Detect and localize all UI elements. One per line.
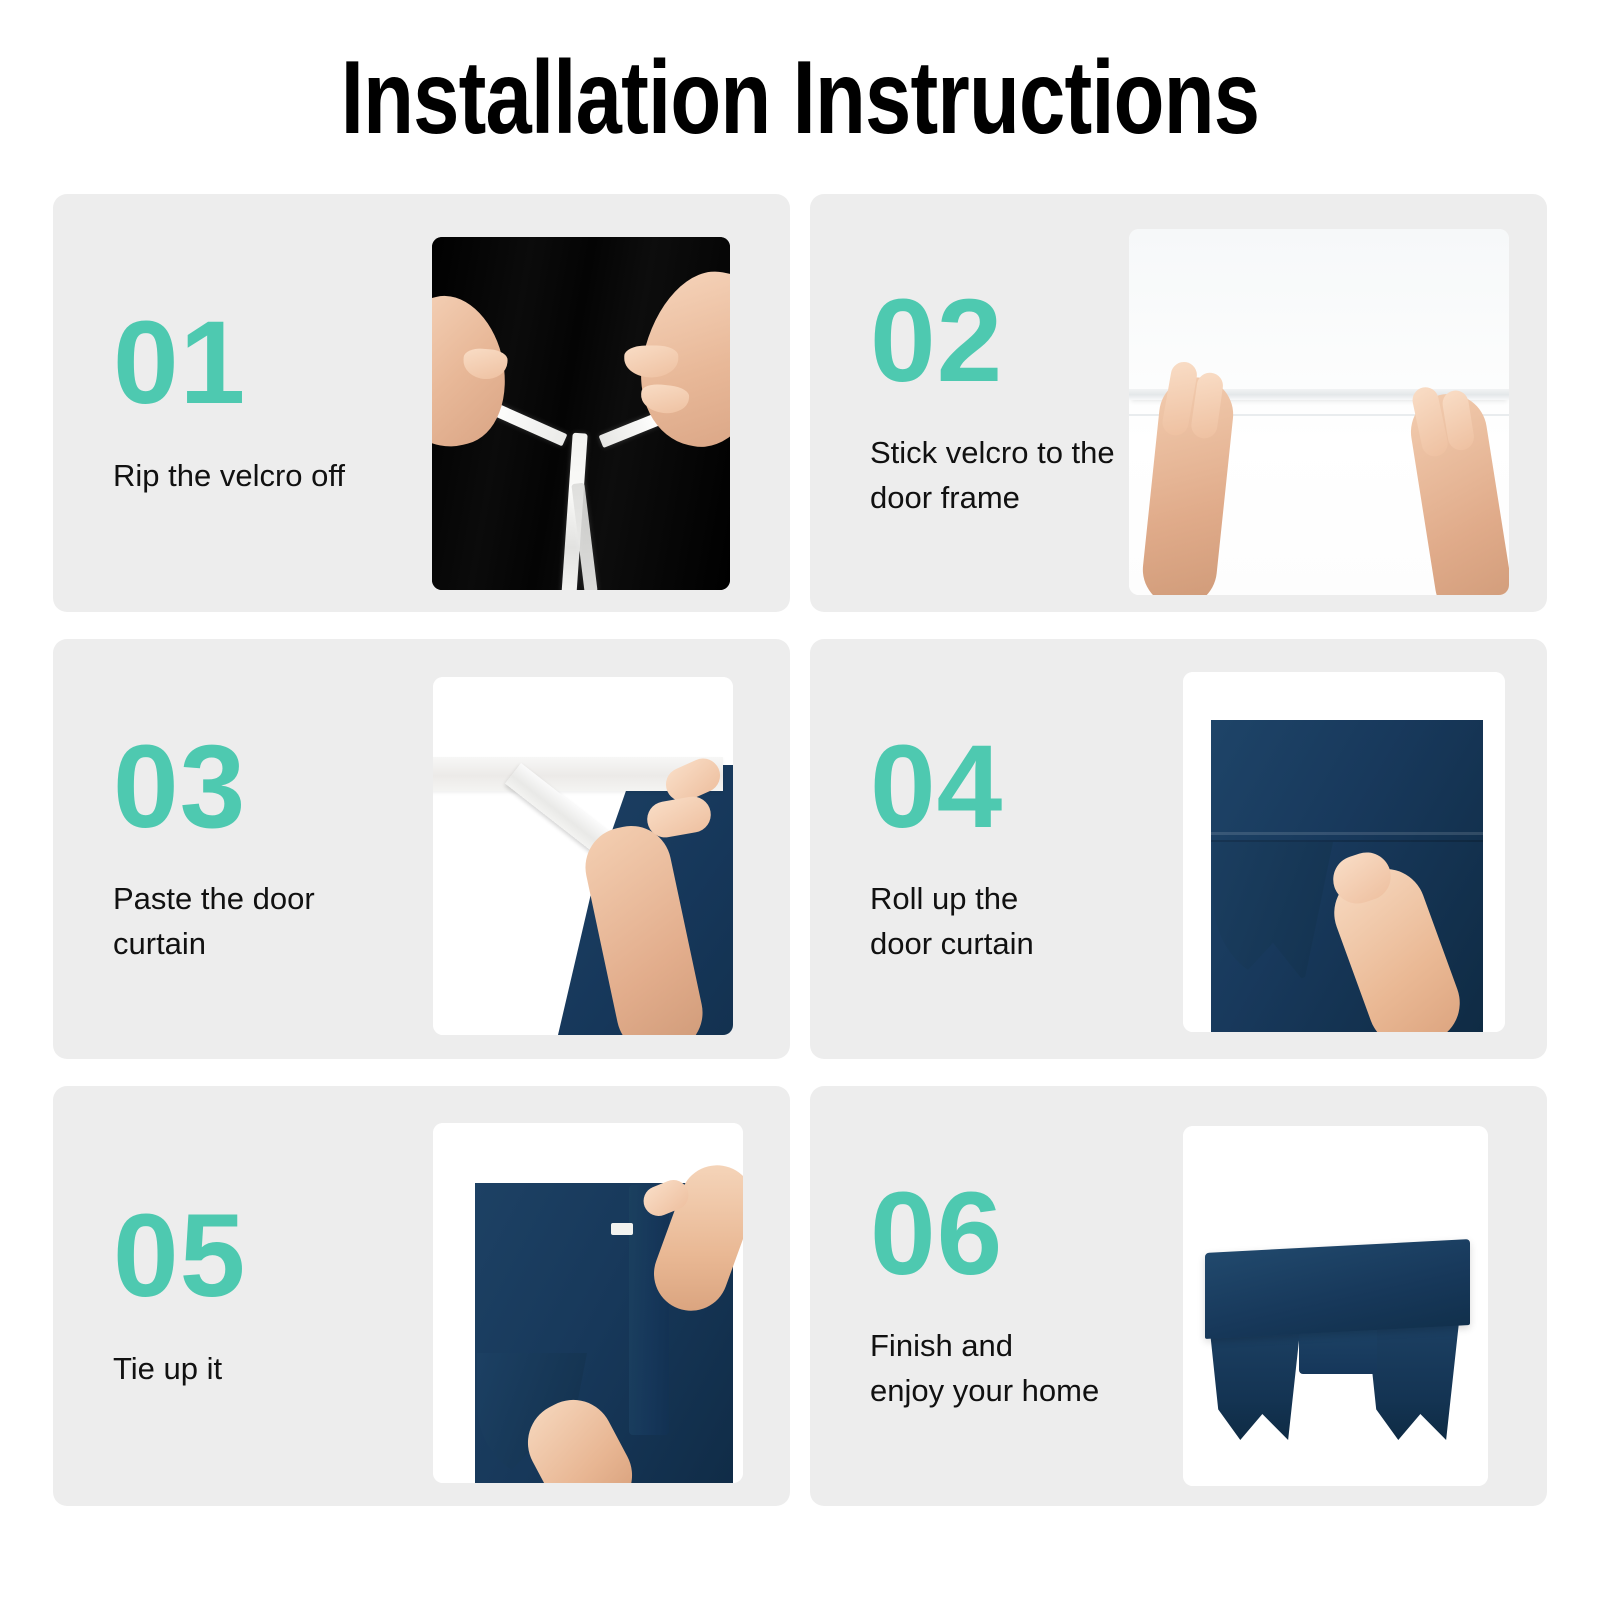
step-card-05: 05 Tie up it bbox=[53, 1086, 790, 1506]
step-image-03 bbox=[433, 677, 733, 1035]
step-text-block-03: 03 Paste the door curtain bbox=[113, 639, 443, 1059]
step-image-06 bbox=[1183, 1126, 1488, 1486]
page-title: Installation Instructions bbox=[160, 40, 1440, 156]
step-label-03: Paste the door curtain bbox=[113, 877, 443, 967]
curtain-hem-shadow bbox=[1211, 840, 1483, 842]
step-text-block-04: 04 Roll up the door curtain bbox=[870, 639, 1200, 1059]
tie-strap bbox=[629, 1185, 669, 1435]
curtain-rolled-top bbox=[1205, 1239, 1470, 1339]
step-image-04 bbox=[1183, 672, 1505, 1032]
step-number-01: 01 bbox=[113, 307, 443, 419]
finger bbox=[624, 345, 678, 377]
step-text-block-05: 05 Tie up it bbox=[113, 1086, 443, 1506]
step-card-04: 04 Roll up the door curtain bbox=[810, 639, 1547, 1059]
step-number-03: 03 bbox=[113, 731, 443, 843]
step-image-01 bbox=[432, 237, 730, 590]
step-text-block-06: 06 Finish and enjoy your home bbox=[870, 1086, 1200, 1506]
curtain-hem-highlight bbox=[1211, 832, 1483, 835]
step-card-03: 03 Paste the door curtain bbox=[53, 639, 790, 1059]
finger bbox=[462, 348, 508, 381]
step-card-02: 02 Stick velcro to the door frame bbox=[810, 194, 1547, 612]
step-label-05: Tie up it bbox=[113, 1347, 443, 1392]
step-text-block-01: 01 Rip the velcro off bbox=[113, 194, 443, 612]
step-label-04: Roll up the door curtain bbox=[870, 877, 1200, 967]
steps-grid: 01 Rip the velcro off 02 bbox=[53, 194, 1547, 1546]
step-number-05: 05 bbox=[113, 1200, 443, 1312]
step-number-04: 04 bbox=[870, 731, 1200, 843]
step-card-01: 01 Rip the velcro off bbox=[53, 194, 790, 612]
installation-instructions-page: Installation Instructions 01 Rip the vel… bbox=[0, 0, 1600, 1600]
step-number-06: 06 bbox=[870, 1178, 1200, 1290]
step-label-06: Finish and enjoy your home bbox=[870, 1324, 1200, 1414]
step-image-02 bbox=[1129, 229, 1509, 595]
step-image-05 bbox=[433, 1123, 743, 1483]
step-card-06: 06 Finish and enjoy your home bbox=[810, 1086, 1547, 1506]
brand-tag bbox=[611, 1223, 633, 1235]
step-label-01: Rip the velcro off bbox=[113, 454, 443, 499]
